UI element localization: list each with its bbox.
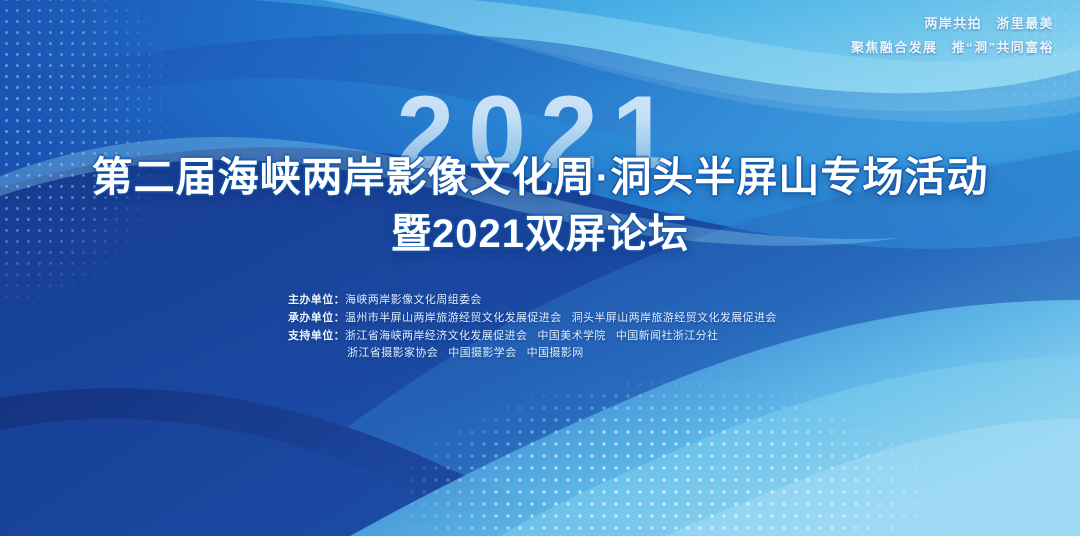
credits-block: 主办单位：海峡两岸影像文化周组委会 承办单位：温州市半屏山两岸旅游经贸文化发展促…: [288, 292, 777, 363]
organizer-label: 承办单位：: [288, 312, 345, 324]
title-line-1: 第二届海峡两岸影像文化周·洞头半屏山专场活动: [0, 150, 1080, 204]
support-value-2: 中国美术学院: [537, 330, 605, 342]
organizer-value-1: 温州市半屏山两岸旅游经贸文化发展促进会: [345, 312, 562, 324]
slogan-line-1: 两岸共拍 浙里最美: [851, 12, 1054, 36]
poster-banner: 2021 两岸共拍 浙里最美 聚焦融合发展 推“洞”共同富裕 第二届海峡两岸影像…: [0, 0, 1080, 536]
title-block: 第二届海峡两岸影像文化周·洞头半屏山专场活动 暨2021双屏论坛: [0, 150, 1080, 261]
credit-row-support-2: 浙江省摄影家协会中国摄影学会中国摄影网: [288, 345, 777, 363]
support-value-4: 浙江省摄影家协会: [347, 347, 438, 359]
title-line-2: 暨2021双屏论坛: [0, 208, 1080, 261]
support-value-6: 中国摄影网: [527, 347, 584, 359]
host-label: 主办单位：: [288, 294, 345, 306]
credit-row-host: 主办单位：海峡两岸影像文化周组委会: [288, 292, 777, 310]
support-value-5: 中国摄影学会: [448, 347, 516, 359]
slogan-block: 两岸共拍 浙里最美 聚焦融合发展 推“洞”共同富裕: [851, 12, 1054, 60]
host-value: 海峡两岸影像文化周组委会: [345, 294, 482, 306]
support-value-1: 浙江省海峡两岸经济文化发展促进会: [345, 330, 527, 342]
credit-row-organizer: 承办单位：温州市半屏山两岸旅游经贸文化发展促进会洞头半屏山两岸旅游经贸文化发展促…: [288, 310, 777, 328]
support-value-3: 中国新闻社浙江分社: [616, 330, 719, 342]
support-label: 支持单位：: [288, 330, 345, 342]
credit-row-support-1: 支持单位：浙江省海峡两岸经济文化发展促进会中国美术学院中国新闻社浙江分社: [288, 328, 777, 346]
slogan-line-2: 聚焦融合发展 推“洞”共同富裕: [851, 36, 1054, 60]
organizer-value-2: 洞头半屏山两岸旅游经贸文化发展促进会: [572, 312, 777, 324]
